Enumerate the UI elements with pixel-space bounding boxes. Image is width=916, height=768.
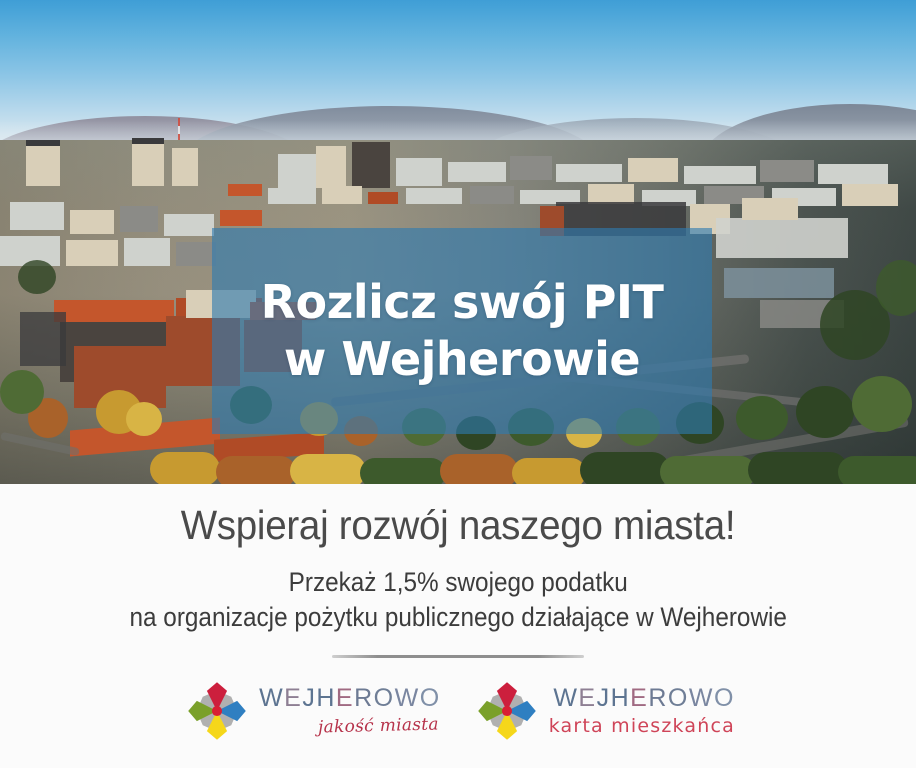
headline-line-1: Rozlicz swój PIT: [261, 274, 664, 332]
wejherowo-star-icon: [181, 675, 253, 747]
wejherowo-star-icon: [471, 675, 543, 747]
logo-text-block: WEJHEROWO karta mieszkańca: [549, 686, 735, 737]
logo-wejherowo-karta-mieszkanca[interactable]: WEJHEROWO karta mieszkańca: [471, 675, 735, 747]
logo-row: WEJHEROWO jakość miasta: [0, 675, 916, 747]
logo-wordmark: WEJHEROWO: [259, 686, 441, 711]
headline-line-2: w Wejherowie: [284, 331, 640, 389]
logo-tagline: jakość miasta: [318, 715, 439, 738]
sub-message-line-2: na organizacje pożytku publicznego dział…: [129, 600, 786, 635]
logo-text-block: WEJHEROWO jakość miasta: [259, 686, 441, 736]
poster-root: Rozlicz swój PIT w Wejherowie Wspieraj r…: [0, 0, 916, 768]
headline-banner: Rozlicz swój PIT w Wejherowie: [212, 228, 712, 434]
logo-wejherowo-jakosc-miasta[interactable]: WEJHEROWO jakość miasta: [181, 675, 441, 747]
message-section: Wspieraj rozwój naszego miasta! Przekaż …: [0, 484, 916, 768]
horizontal-divider: [332, 655, 584, 658]
lead-message: Wspieraj rozwój naszego miasta!: [181, 484, 736, 549]
sub-message-line-1: Przekaż 1,5% swojego podatku: [288, 567, 627, 597]
aerial-cityscape-photo: Rozlicz swój PIT w Wejherowie: [0, 0, 916, 484]
sub-message: Przekaż 1,5% swojego podatku na organiza…: [129, 549, 786, 635]
logo-tagline: karta mieszkańca: [549, 715, 735, 737]
logo-wordmark: WEJHEROWO: [553, 686, 735, 711]
